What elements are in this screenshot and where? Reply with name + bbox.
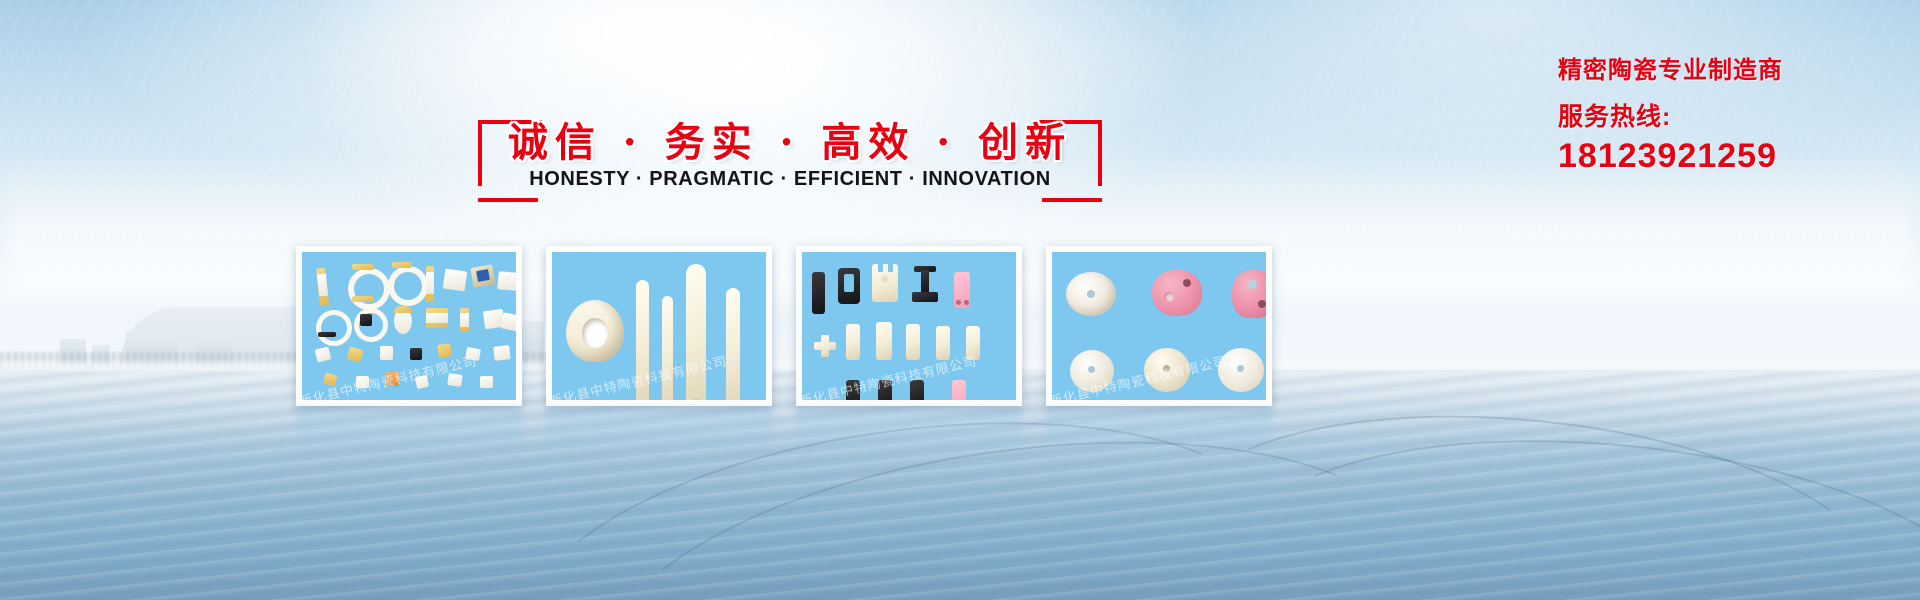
product-panel-row: 新化县中特陶瓷科技有限公司 新化县中特陶瓷科技有限公司 [296,246,1536,406]
banner-stage: 诚信 · 务实 · 高效 · 创新 HONESTY · PRAGMATIC · … [0,0,1920,600]
part-bar [460,313,469,327]
hotline-label: 服务热线: [1558,97,1898,133]
part-chip [443,269,468,292]
panel-photo: 新化县中特陶瓷科技有限公司 [1052,252,1266,400]
part-chip [447,373,463,387]
part-cup-bore [1248,280,1257,289]
company-tagline: 精密陶瓷专业制造商 [1558,50,1898,85]
part-disc-hole [1087,290,1095,298]
part-bracket-notch [888,262,893,272]
panel-photo: 新化县中特陶瓷科技有限公司 [552,252,766,400]
product-panel-ceramic-tubes[interactable]: 新化县中特陶瓷科技有限公司 [546,246,772,406]
part-pink-block [952,380,966,400]
part-pink-hole [964,300,969,305]
part-chip [497,271,516,291]
part-ceramic-rod [636,280,649,400]
part-bracket-hole [880,274,890,284]
slogan-english: HONESTY · PRAGMATIC · EFFICIENT · INNOVA… [470,168,1110,191]
part-cup-bore [1258,300,1266,308]
part-chip-blue-core [476,269,490,282]
product-panel-chip-components[interactable]: 新化县中特陶瓷科技有限公司 [296,246,522,406]
panel-photo: 新化县中特陶瓷科技有限公司 [802,252,1016,400]
product-panel-ceramic-blocks[interactable]: 新化县中特陶瓷科技有限公司 [796,246,1022,406]
part-chip [346,346,363,362]
part-ring-contact [352,296,374,302]
part-chip [323,372,338,386]
part-ceramic-rod [662,296,673,400]
part-ring-contact [352,264,374,270]
part-chip [410,348,422,360]
part-bar [317,274,328,297]
part-ceramic-rod [726,288,740,400]
part-pink-disc-hole [1183,279,1191,287]
panel-photo: 新化县中特陶瓷科技有限公司 [302,252,516,400]
part-white-block [966,326,980,360]
part-ring [388,266,428,306]
part-chip [356,376,369,388]
part-ring [348,268,390,310]
part-black-ibeam [921,270,929,294]
part-disc-hole [1163,365,1170,372]
part-bar [426,272,434,294]
part-chip [437,343,452,358]
part-white-cross [821,335,829,357]
part-ring [316,310,352,346]
part-chip [501,312,516,331]
slogan-chinese: 诚信 · 务实 · 高效 · 创新 [470,110,1110,168]
bracket-corner-bottom-right [1042,198,1102,202]
part-pink-disc-hole [1164,292,1174,302]
part-ceramic-rod [686,264,706,400]
part-chip [465,347,481,361]
part-black-block [878,380,892,400]
part-white-block [876,322,892,360]
part-clip-slot [844,274,854,292]
hotline-number: 18123921259 [1558,137,1898,176]
part-oval-cap [394,306,412,313]
part-ring-contact [392,262,412,268]
part-white-block [906,324,920,360]
part-pink-disc [1152,270,1202,316]
part-ring-core [360,314,372,326]
part-pink-hole [956,300,961,305]
contact-block: 精密陶瓷专业制造商 服务热线: 18123921259 [1558,50,1898,176]
part-black-bar [812,272,825,314]
product-panel-ceramic-discs[interactable]: 新化县中特陶瓷科技有限公司 [1046,246,1272,406]
part-white-block [936,326,950,360]
part-chip [415,375,429,389]
part-pink-cup [1232,270,1266,318]
part-ring-contact [318,332,336,337]
part-chip [380,346,393,360]
bracket-corner-bottom-left [478,198,538,202]
part-white-block [846,324,860,360]
part-chip [480,376,493,388]
part-disc-hole [1237,365,1244,372]
part-chip [493,345,510,361]
part-chip [315,346,332,362]
part-black-block [910,380,924,400]
part-black-ibeam [912,292,938,302]
part-bushing-hole [582,318,608,348]
part-bracket-notch [878,262,883,272]
part-chip-orange [386,372,399,386]
part-black-block [846,380,860,400]
slogan-block: 诚信 · 务实 · 高效 · 创新 HONESTY · PRAGMATIC · … [470,104,1110,200]
part-disc-hole [1088,366,1095,373]
part-block-core [426,313,448,323]
